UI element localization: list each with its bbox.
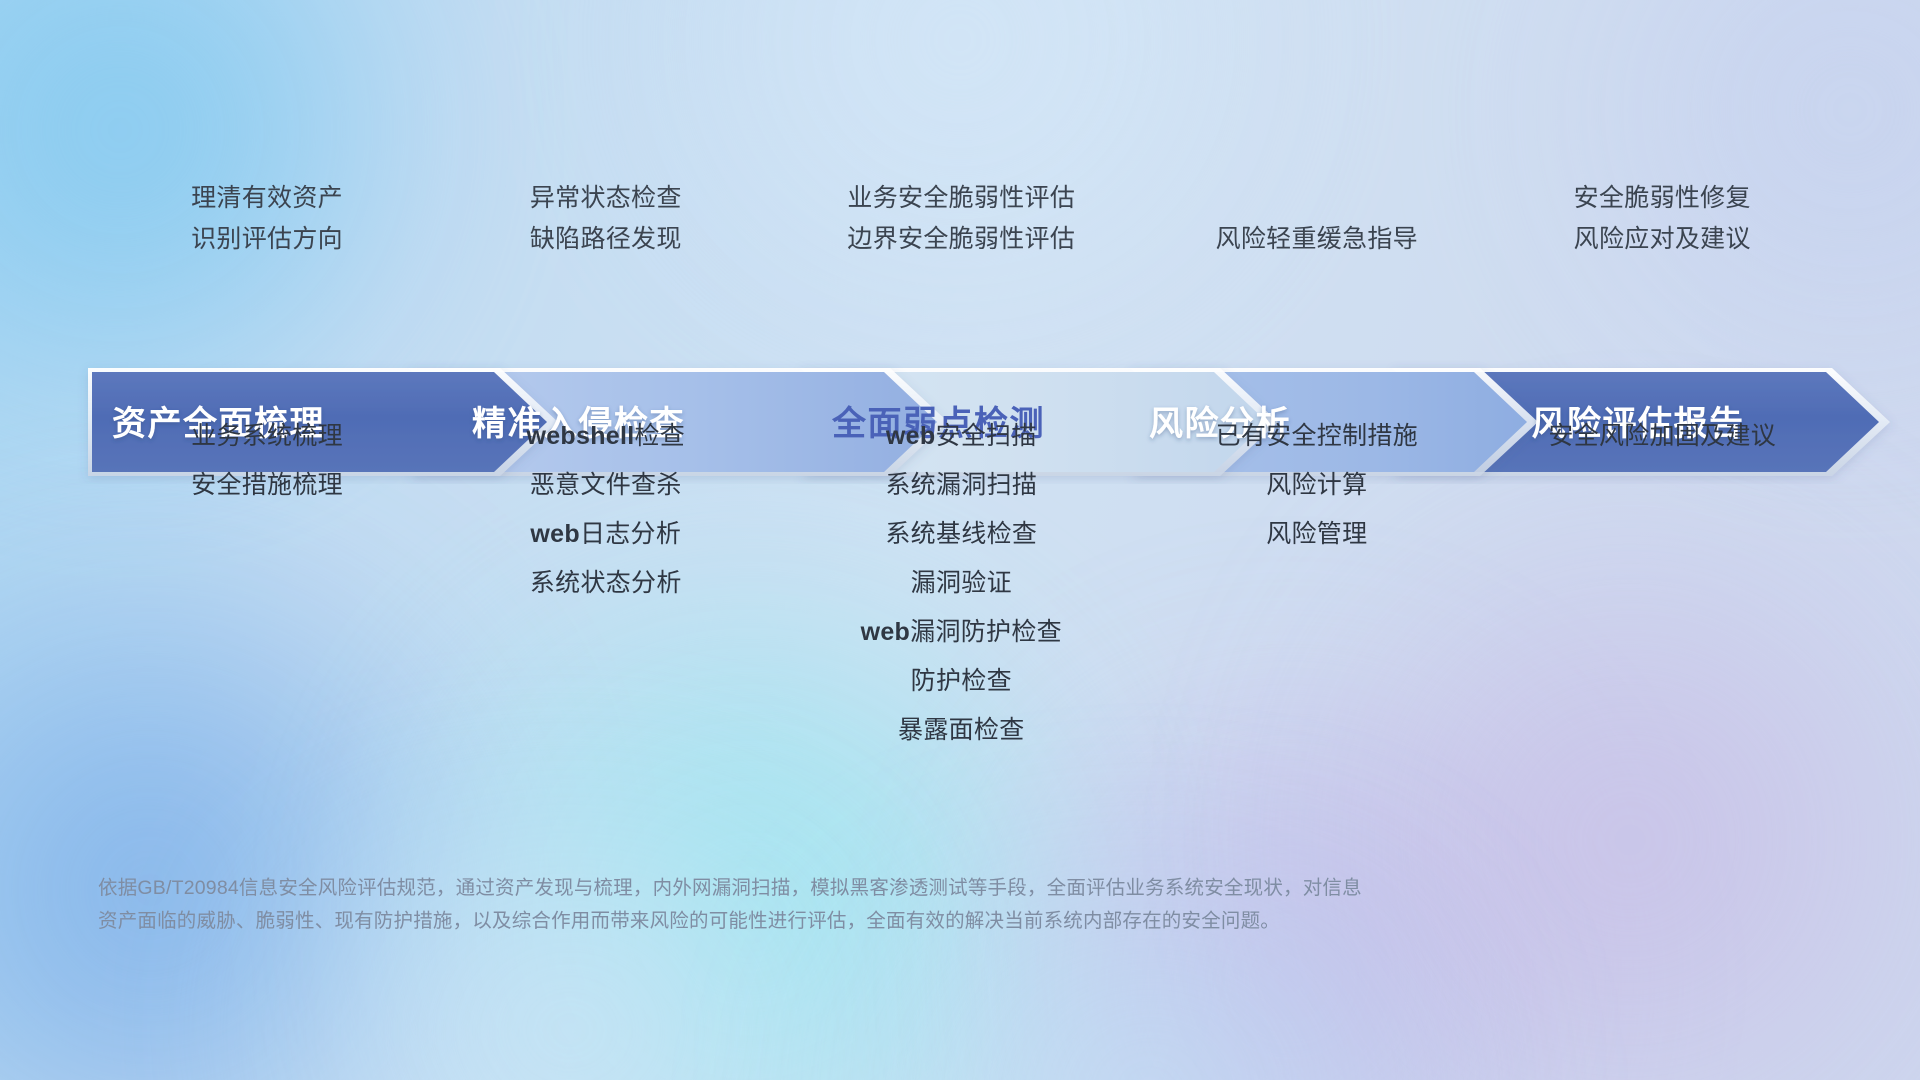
sub-item-rest: 检查 [634, 422, 685, 450]
caption-item: 理清有效资产 [96, 178, 438, 219]
caption-item: 异常状态检查 [438, 178, 773, 219]
sub-item: web漏洞防护检查 [773, 608, 1149, 657]
sub-item: 风险管理 [1149, 510, 1484, 559]
sub-item-rest: 安全扫描 [935, 422, 1036, 450]
sub-item: 安全风险加固及建议 [1484, 412, 1840, 461]
sub-item-bold: web [530, 520, 580, 548]
caption-item: 缺陷路径发现 [438, 219, 773, 260]
sub-item-bold: webshell [526, 422, 634, 450]
sub-item: 业务系统梳理 [96, 412, 438, 461]
footer-description: 依据GB/T20984信息安全风险评估规范，通过资产发现与梳理，内外网漏洞扫描，… [98, 872, 1628, 938]
footer-line-1: 依据GB/T20984信息安全风险评估规范，通过资产发现与梳理，内外网漏洞扫描，… [98, 872, 1628, 905]
sub-item-bold: web [886, 422, 936, 450]
sub-item: 系统状态分析 [438, 559, 773, 608]
sub-item-rest: 风险计算 [1266, 471, 1367, 499]
caption-item: 安全脆弱性修复 [1484, 178, 1840, 219]
sub-item-rest: 业务系统梳理 [191, 422, 343, 450]
top-captions-row: 理清有效资产 识别评估方向 异常状态检查 缺陷路径发现 业务安全脆弱性评估 边界… [96, 178, 1840, 260]
caption-item: 边界安全脆弱性评估 [773, 219, 1149, 260]
sub-item: 系统漏洞扫描 [773, 461, 1149, 510]
sub-item-rest: 已有安全控制措施 [1216, 422, 1418, 450]
sub-item-rest: 防护检查 [911, 667, 1012, 695]
sub-item-rest: 漏洞验证 [911, 569, 1012, 597]
sub-item-rest: 系统基线检查 [885, 520, 1037, 548]
caption-item: 识别评估方向 [96, 219, 438, 260]
diagram-stage: 理清有效资产 识别评估方向 异常状态检查 缺陷路径发现 业务安全脆弱性评估 边界… [0, 0, 1920, 1080]
sub-item-rest: 暴露面检查 [898, 716, 1025, 744]
sub-item-rest: 安全措施梳理 [191, 471, 343, 499]
sub-item-rest: 系统漏洞扫描 [885, 471, 1037, 499]
sub-item-bold: web [861, 618, 911, 646]
bottom-captions-step-1: 业务系统梳理 安全措施梳理 [96, 412, 438, 755]
bottom-captions-step-3: web安全扫描 系统漏洞扫描 系统基线检查 漏洞验证 web漏洞防护检查 防护检… [773, 412, 1149, 755]
caption-item: 风险轻重缓急指导 [1149, 219, 1484, 260]
sub-item: 暴露面检查 [773, 706, 1149, 755]
caption-item: 风险应对及建议 [1484, 219, 1840, 260]
sub-item-rest: 漏洞防护检查 [910, 618, 1062, 646]
sub-item: 已有安全控制措施 [1149, 412, 1484, 461]
top-captions-step-5: 安全脆弱性修复 风险应对及建议 [1484, 178, 1840, 260]
sub-item-rest: 恶意文件查杀 [530, 471, 682, 499]
sub-item: 系统基线检查 [773, 510, 1149, 559]
sub-item: web安全扫描 [773, 412, 1149, 461]
bottom-captions-step-5: 安全风险加固及建议 [1484, 412, 1840, 755]
sub-item: 安全措施梳理 [96, 461, 438, 510]
top-captions-step-4: 风险轻重缓急指导 [1149, 178, 1484, 260]
top-captions-step-1: 理清有效资产 识别评估方向 [96, 178, 438, 260]
sub-item: 恶意文件查杀 [438, 461, 773, 510]
sub-item-rest: 风险管理 [1266, 520, 1367, 548]
caption-item: 业务安全脆弱性评估 [773, 178, 1149, 219]
sub-item: webshell检查 [438, 412, 773, 461]
sub-item-rest: 系统状态分析 [530, 569, 682, 597]
footer-line-2: 资产面临的威胁、脆弱性、现有防护措施，以及综合作用而带来风险的可能性进行评估，全… [98, 905, 1628, 938]
sub-item-rest: 日志分析 [580, 520, 681, 548]
top-captions-step-2: 异常状态检查 缺陷路径发现 [438, 178, 773, 260]
bottom-captions-row: 业务系统梳理 安全措施梳理 webshell检查 恶意文件查杀 web日志分析 … [96, 412, 1840, 755]
sub-item: 漏洞验证 [773, 559, 1149, 608]
sub-item: 风险计算 [1149, 461, 1484, 510]
sub-item: web日志分析 [438, 510, 773, 559]
sub-item-rest: 安全风险加固及建议 [1548, 422, 1776, 450]
sub-item: 防护检查 [773, 657, 1149, 706]
bottom-captions-step-2: webshell检查 恶意文件查杀 web日志分析 系统状态分析 [438, 412, 773, 755]
bottom-captions-step-4: 已有安全控制措施 风险计算 风险管理 [1149, 412, 1484, 755]
top-captions-step-3: 业务安全脆弱性评估 边界安全脆弱性评估 [773, 178, 1149, 260]
